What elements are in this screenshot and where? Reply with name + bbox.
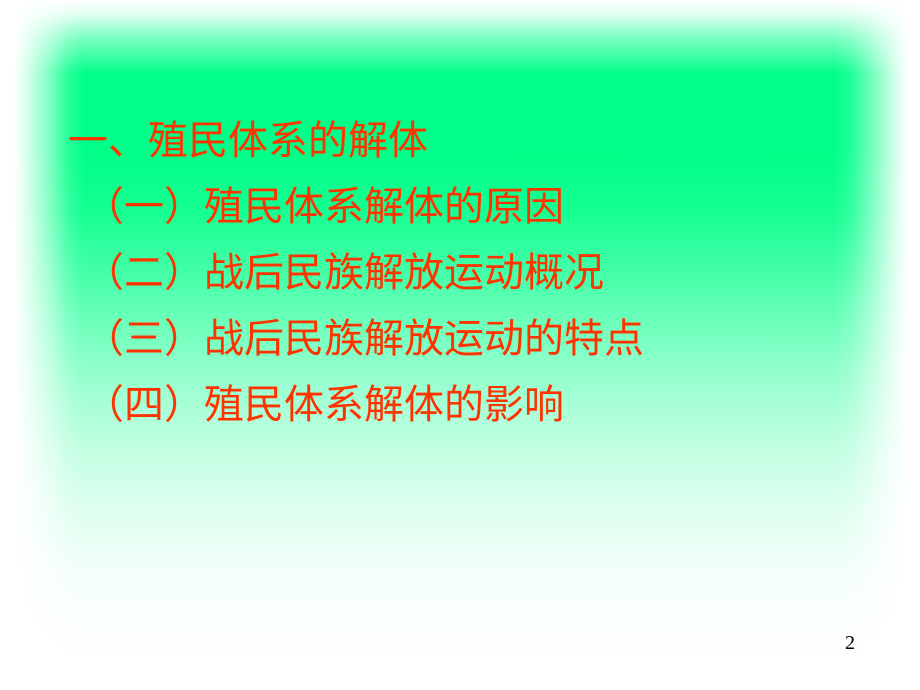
slide-canvas: 一、殖民体系的解体 （一）殖民体系解体的原因 （二）战后民族解放运动概况 （三）…: [0, 0, 920, 690]
outline-text-block: 一、殖民体系的解体 （一）殖民体系解体的原因 （二）战后民族解放运动概况 （三）…: [62, 108, 862, 438]
slide-content: 一、殖民体系的解体 （一）殖民体系解体的原因 （二）战后民族解放运动概况 （三）…: [0, 0, 920, 690]
outline-item-1: （一）殖民体系解体的原因: [62, 174, 862, 240]
outline-item-3: （三）战后民族解放运动的特点: [62, 306, 862, 372]
outline-heading: 一、殖民体系的解体: [62, 108, 862, 174]
page-number: 2: [845, 632, 885, 654]
outline-item-4: （四）殖民体系解体的影响: [62, 372, 862, 438]
outline-item-2: （二）战后民族解放运动概况: [62, 240, 862, 306]
